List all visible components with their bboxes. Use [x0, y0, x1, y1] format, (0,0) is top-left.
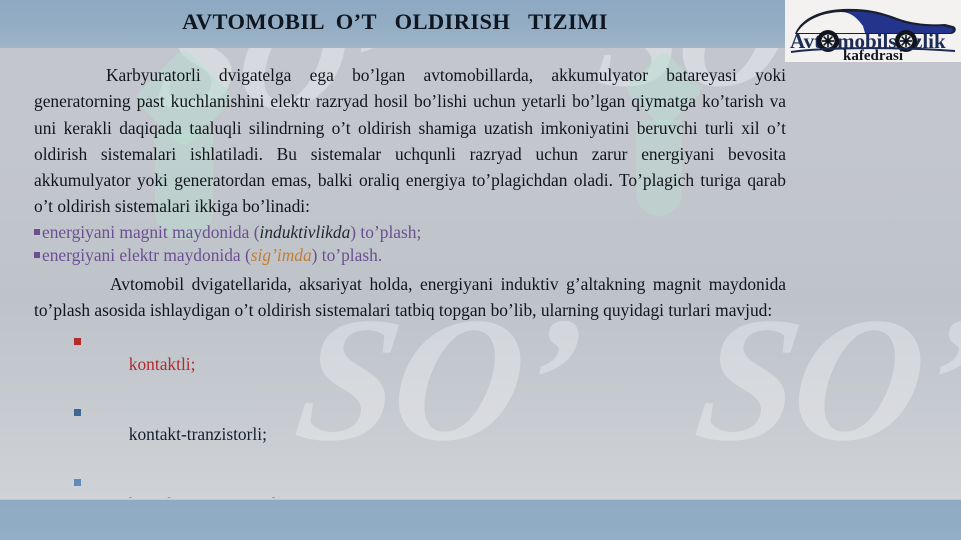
inline-bullet-1-prefix: energiyani magnit maydonida (: [42, 222, 260, 242]
inline-bullet-1-emphasis: induktivlikda: [260, 222, 351, 242]
square-bullet-icon: [74, 409, 81, 416]
list-item-label: kontakt-tranzistorli;: [129, 424, 267, 444]
department-logo: Avt mobils zlik: [785, 0, 961, 62]
inline-bullet-2-emphasis: sig’imda: [251, 245, 312, 265]
square-bullet-icon: [74, 338, 81, 345]
logo-graphic: Avt mobils zlik: [785, 0, 961, 62]
inline-bullet-1-suffix: ) to’plash;: [350, 222, 421, 242]
paragraph-1: Karbyuratorli dvigatelga ega bo’lgan avt…: [34, 62, 786, 220]
list-item: kontaktli;: [34, 329, 786, 399]
paragraph-2-text: Avtomobil dvigatellarida, aksariyat hold…: [34, 274, 786, 320]
inline-bullet-2-prefix: energiyani elektr maydonida (: [42, 245, 251, 265]
square-bullet-icon: [74, 479, 81, 486]
list-item-label: kontaktli;: [129, 354, 196, 374]
paragraph-1-text: Karbyuratorli dvigatelga ega bo’lgan avt…: [34, 65, 786, 216]
inline-bullet-2-suffix: ) to’plash.: [312, 245, 383, 265]
paragraph-2: Avtomobil dvigatellarida, aksariyat hold…: [34, 271, 786, 324]
list-item: kontakt-tranzistorli;: [34, 400, 786, 470]
footer-band: [0, 500, 961, 540]
slide-content: Karbyuratorli dvigatelga ega bo’lgan avt…: [34, 62, 786, 540]
square-bullet-icon: [34, 229, 40, 235]
inline-bullet-2: energiyani elektr maydonida (sig’imda) t…: [34, 244, 786, 267]
svg-text:kafedrasi: kafedrasi: [843, 48, 903, 62]
inline-bullet-1: energiyani magnit maydonida (induktivlik…: [34, 221, 786, 244]
page-title: AVTOMOBIL O’T OLDIRISH TIZIMI: [0, 0, 790, 48]
slide-canvas: SO’ SO’ SO’ SO’ AVTOMOBIL O’T OLDIRISH T…: [0, 0, 961, 540]
square-bullet-icon: [34, 252, 40, 258]
